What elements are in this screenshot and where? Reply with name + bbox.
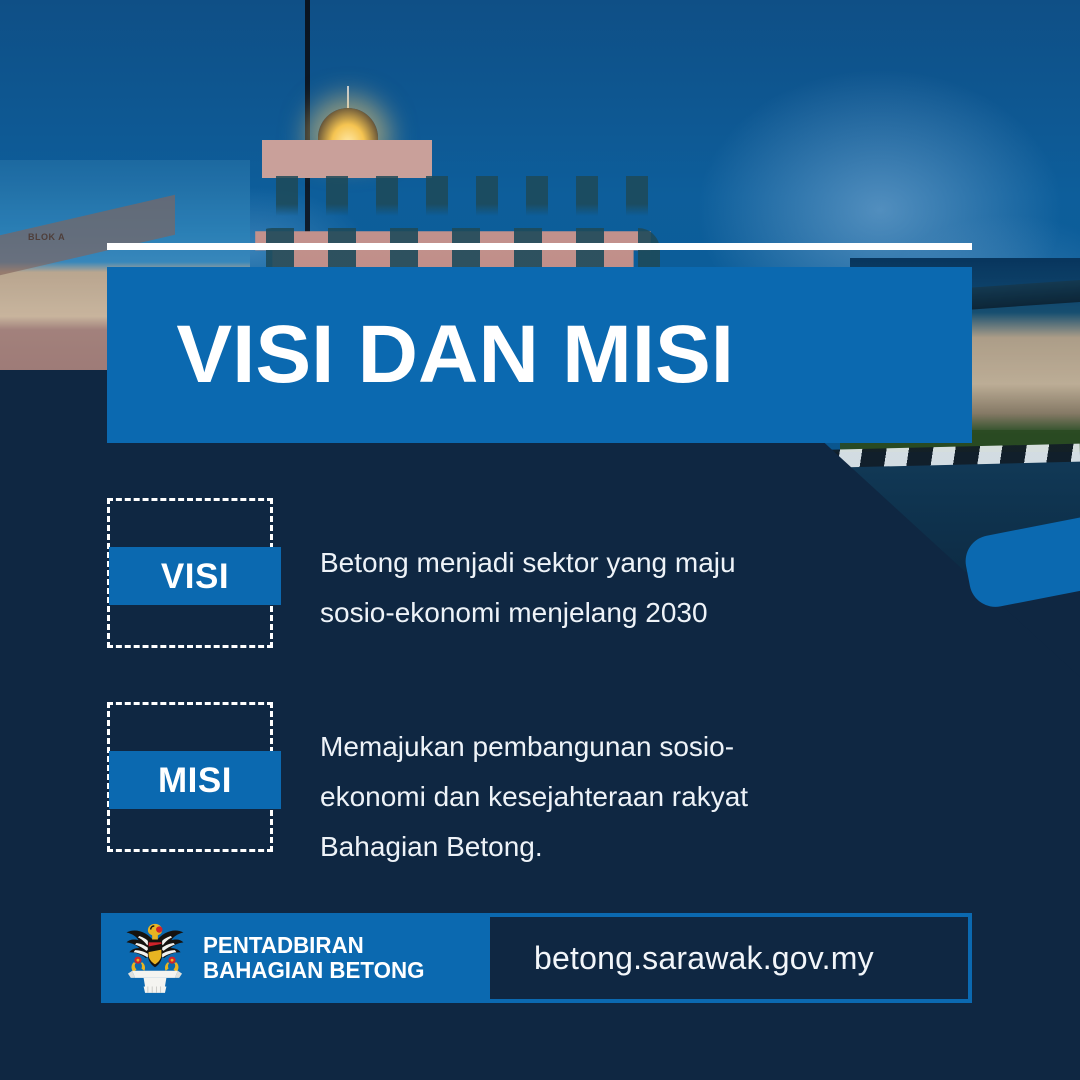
visi-badge-bar: VISI	[109, 547, 281, 605]
visi-badge-label: VISI	[161, 559, 229, 594]
misi-dashed-frame: MISI	[107, 702, 273, 852]
sarawak-coat-of-arms-icon	[119, 921, 191, 995]
visi-dashed-frame: VISI	[107, 498, 273, 648]
organisation-name: PENTADBIRAN BAHAGIAN BETONG	[203, 933, 424, 983]
visi-badge-group: VISI	[107, 498, 273, 648]
blok-a-label: BLOK A	[28, 232, 65, 243]
page-title: VISI DAN MISI	[107, 314, 734, 396]
building-upper-arches	[262, 176, 652, 216]
footer-bar: PENTADBIRAN BAHAGIAN BETONG betong.saraw…	[101, 913, 972, 1003]
misi-body-text: Memajukan pembangunan sosio- ekonomi dan…	[320, 722, 748, 872]
poster-canvas: BLOK A KOMPLEKS PEJABAT KERAJAAN VISI DA…	[0, 0, 1080, 1080]
building-upper-block	[262, 140, 432, 178]
misi-badge-group: MISI	[107, 702, 273, 852]
footer-branding: PENTADBIRAN BAHAGIAN BETONG	[105, 917, 490, 999]
misi-badge-bar: MISI	[109, 751, 281, 809]
misi-badge-label: MISI	[158, 763, 232, 798]
website-panel[interactable]: betong.sarawak.gov.my	[490, 917, 968, 999]
visi-body-text: Betong menjadi sektor yang maju sosio-ek…	[320, 538, 736, 638]
title-banner: VISI DAN MISI	[107, 267, 972, 443]
website-url[interactable]: betong.sarawak.gov.my	[534, 940, 874, 977]
header-rule	[107, 243, 972, 250]
